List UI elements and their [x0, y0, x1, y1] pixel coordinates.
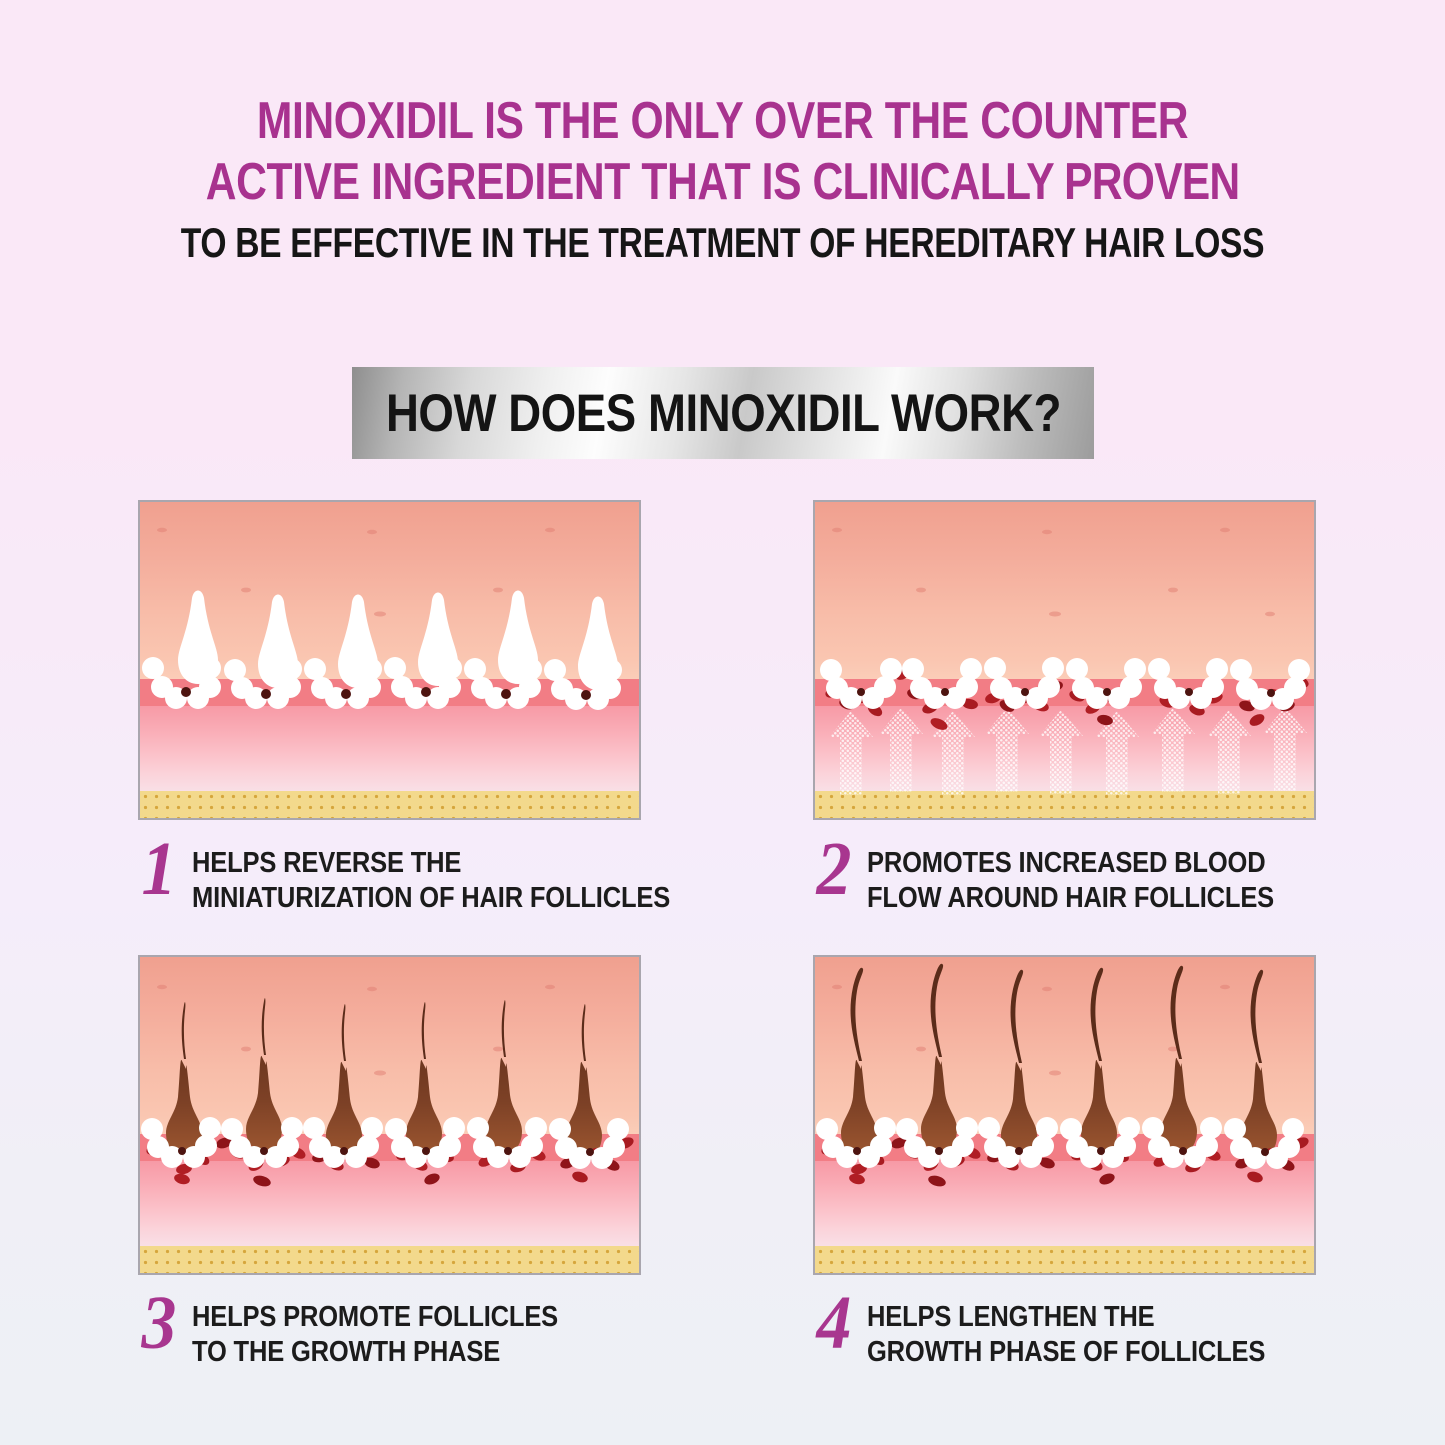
panel-1-graphics: [140, 502, 641, 820]
illustration-panel-2: [813, 500, 1316, 820]
blood-flow-arrows: [829, 707, 1307, 795]
follicle-cell-clusters: [142, 657, 622, 710]
step-3-line-1: HELPS PROMOTE FOLLICLES: [192, 1300, 558, 1335]
step-caption-3: 3 HELPS PROMOTE FOLLICLES TO THE GROWTH …: [140, 1292, 608, 1371]
skin-freckles: [157, 985, 555, 1076]
skin-freckles: [832, 985, 1230, 1076]
step-4-line-2: GROWTH PHASE OF FOLLICLES: [867, 1335, 1265, 1370]
headline-line-2: ACTIVE INGREDIENT THAT IS CLINICALLY PRO…: [130, 156, 1315, 208]
step-number-3: 3: [142, 1292, 177, 1354]
panel-2-graphics: [815, 502, 1316, 820]
headline-emphasis-clinically-proven: CLINICALLY PROVEN: [813, 153, 1240, 211]
illustration-panel-3: [138, 955, 641, 1275]
step-number-1: 1: [142, 838, 177, 900]
step-number-4: 4: [817, 1292, 852, 1354]
illustration-panel-4: [813, 955, 1316, 1275]
step-caption-1: 1 HELPS REVERSE THE MINIATURIZATION OF H…: [140, 838, 735, 917]
banner-title: HOW DOES MINOXIDIL WORK?: [385, 383, 1060, 444]
step-caption-4: 4 HELPS LENGTHEN THE GROWTH PHASE OF FOL…: [815, 1292, 1320, 1371]
step-text-4: HELPS LENGTHEN THE GROWTH PHASE OF FOLLI…: [867, 1292, 1320, 1371]
skin-freckles: [832, 528, 1275, 617]
panel-3-graphics: [140, 957, 641, 1275]
headline-line-2-normal: ACTIVE INGREDIENT THAT IS: [206, 153, 813, 211]
step-text-2: PROMOTES INCREASED BLOOD FLOW AROUND HAI…: [867, 838, 1330, 917]
step-2-line-2: FLOW AROUND HAIR FOLLICLES: [867, 881, 1274, 916]
step-4-line-1: HELPS LENGTHEN THE: [867, 1300, 1265, 1335]
step-number-2: 2: [817, 838, 852, 900]
panel-4-graphics: [815, 957, 1316, 1275]
follicle-cell-clusters: [816, 1117, 1304, 1169]
illustration-panel-1: [138, 500, 641, 820]
headline-block: MINOXIDIL IS THE ONLY OVER THE COUNTER A…: [0, 95, 1445, 264]
section-banner: HOW DOES MINOXIDIL WORK?: [352, 367, 1094, 459]
step-text-3: HELPS PROMOTE FOLLICLES TO THE GROWTH PH…: [192, 1292, 608, 1371]
headline-subline: TO BE EFFECTIVE IN THE TREATMENT OF HERE…: [145, 222, 1301, 264]
step-text-1: HELPS REVERSE THE MINIATURIZATION OF HAI…: [192, 838, 735, 917]
follicle-cell-clusters: [141, 1117, 629, 1169]
headline-line-1: MINOXIDIL IS THE ONLY OVER THE COUNTER: [130, 95, 1315, 147]
step-caption-2: 2 PROMOTES INCREASED BLOOD FLOW AROUND H…: [815, 838, 1330, 917]
step-1-line-1: HELPS REVERSE THE: [192, 846, 670, 881]
infographic-page: MINOXIDIL IS THE ONLY OVER THE COUNTER A…: [0, 0, 1445, 1445]
follicle-cell-clusters: [820, 657, 1310, 710]
step-3-line-2: TO THE GROWTH PHASE: [192, 1335, 558, 1370]
step-2-line-1: PROMOTES INCREASED BLOOD: [867, 846, 1274, 881]
step-1-line-2: MINIATURIZATION OF HAIR FOLLICLES: [192, 881, 670, 916]
